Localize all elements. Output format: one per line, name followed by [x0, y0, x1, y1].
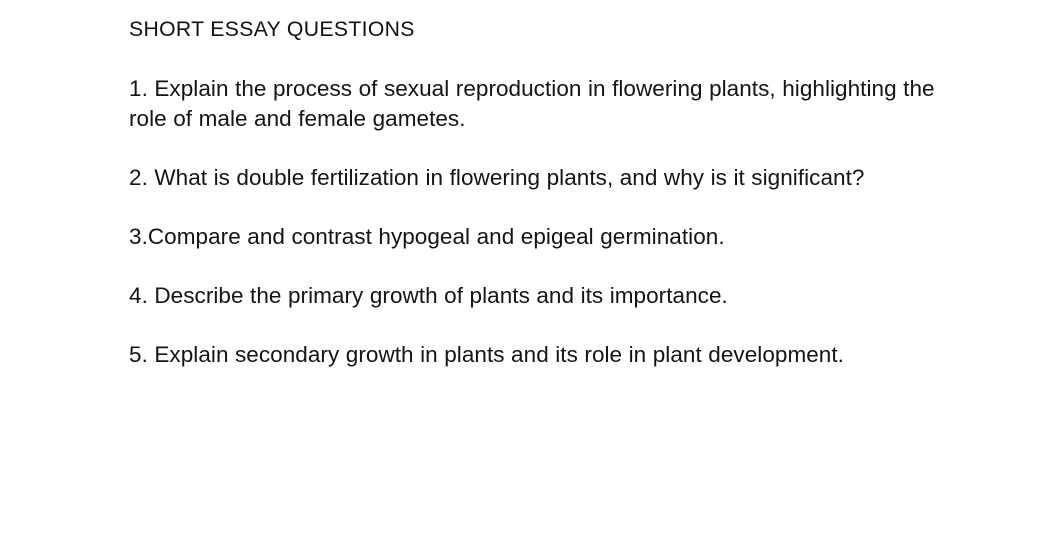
- list-item: 3.Compare and contrast hypogeal and epig…: [129, 222, 989, 252]
- page-title: SHORT ESSAY QUESTIONS: [129, 14, 415, 44]
- slide-canvas: SHORT ESSAY QUESTIONS 1. Explain the pro…: [0, 0, 1040, 535]
- list-item: 5. Explain secondary growth in plants an…: [129, 340, 989, 370]
- list-item: 2. What is double fertilization in flowe…: [129, 163, 989, 193]
- list-item: 4. Describe the primary growth of plants…: [129, 281, 989, 311]
- question-list: 1. Explain the process of sexual reprodu…: [129, 74, 989, 370]
- list-item: 1. Explain the process of sexual reprodu…: [129, 74, 941, 134]
